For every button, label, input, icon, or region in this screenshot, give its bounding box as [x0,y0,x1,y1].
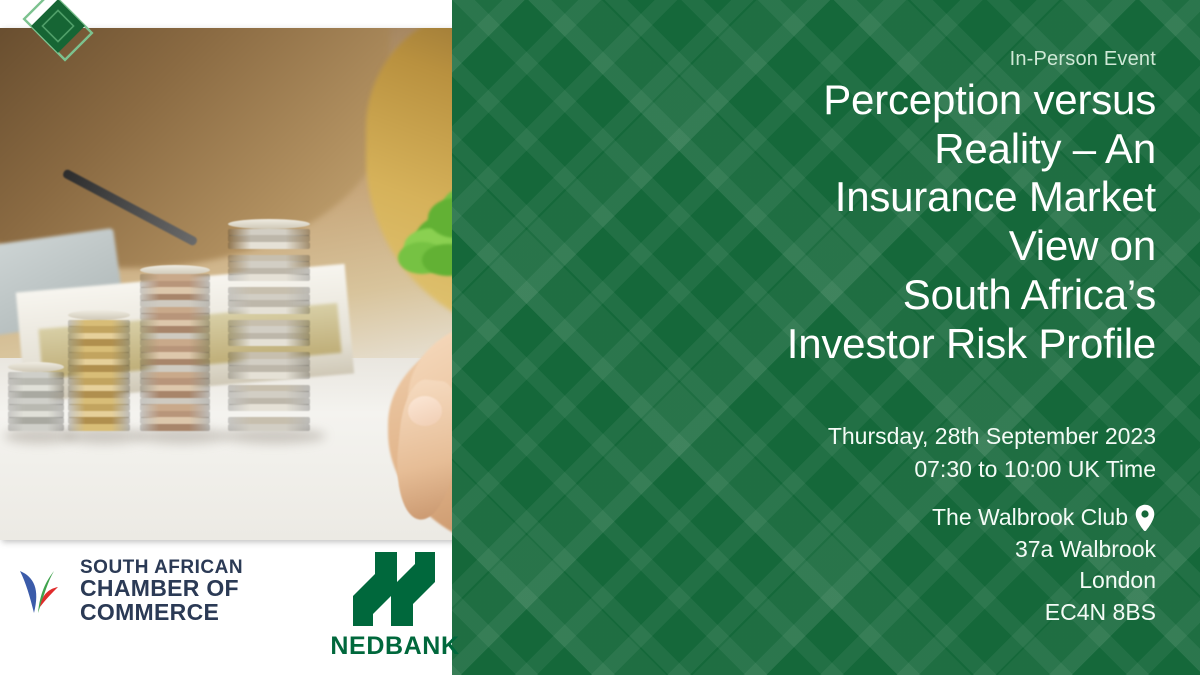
location-pin-icon [1134,504,1156,532]
venue-name-row: The Walbrook Club [932,502,1156,534]
venue-city: London [932,565,1156,597]
nedbank-logo: NEDBANK [336,548,454,666]
page-title-line: Perception versus [823,76,1156,123]
event-venue: The Walbrook Club 37a Walbrook London EC… [932,502,1156,629]
event-type-label: In-Person Event [1010,48,1156,71]
sacc-logo: SOUTH AFRICAN CHAMBER OF COMMERCE [14,560,344,622]
photo-coin-stack-4 [228,219,310,430]
page-title-line: View on [1009,222,1156,269]
venue-address-line: 37a Walbrook [932,534,1156,566]
photo-coin-stack-1 [8,362,64,430]
venue-name: The Walbrook Club [932,502,1128,534]
event-details: In-Person Event Perception versusReality… [452,0,1200,675]
page-title: Perception versusReality – AnInsurance M… [596,76,1156,368]
nedbank-wordmark: NEDBANK [330,632,459,661]
photo-nail-1 [408,396,442,426]
page-title-line: South Africa’s [903,271,1156,318]
photo-coin-stack-3 [140,265,210,431]
venue-postcode: EC4N 8BS [932,597,1156,629]
diamond-logo-mark [18,0,98,66]
event-datetime: Thursday, 28th September 2023 07:30 to 1… [828,420,1156,485]
page-title-line: Reality – An [934,125,1156,172]
sacc-line-2: CHAMBER OF COMMERCE [80,577,344,624]
event-date: Thursday, 28th September 2023 [828,420,1156,453]
page-title-line: Investor Risk Profile [787,320,1156,367]
event-banner: In-Person Event Perception versusReality… [0,0,1200,675]
sacc-wordmark: SOUTH AFRICAN CHAMBER OF COMMERCE [80,558,344,624]
photo-coin-stack-2 [68,310,130,430]
event-time: 07:30 to 10:00 UK Time [828,453,1156,486]
sacc-swoosh-mark [14,563,70,619]
nedbank-n-mark [351,548,439,630]
page-title-line: Insurance Market [835,173,1156,220]
